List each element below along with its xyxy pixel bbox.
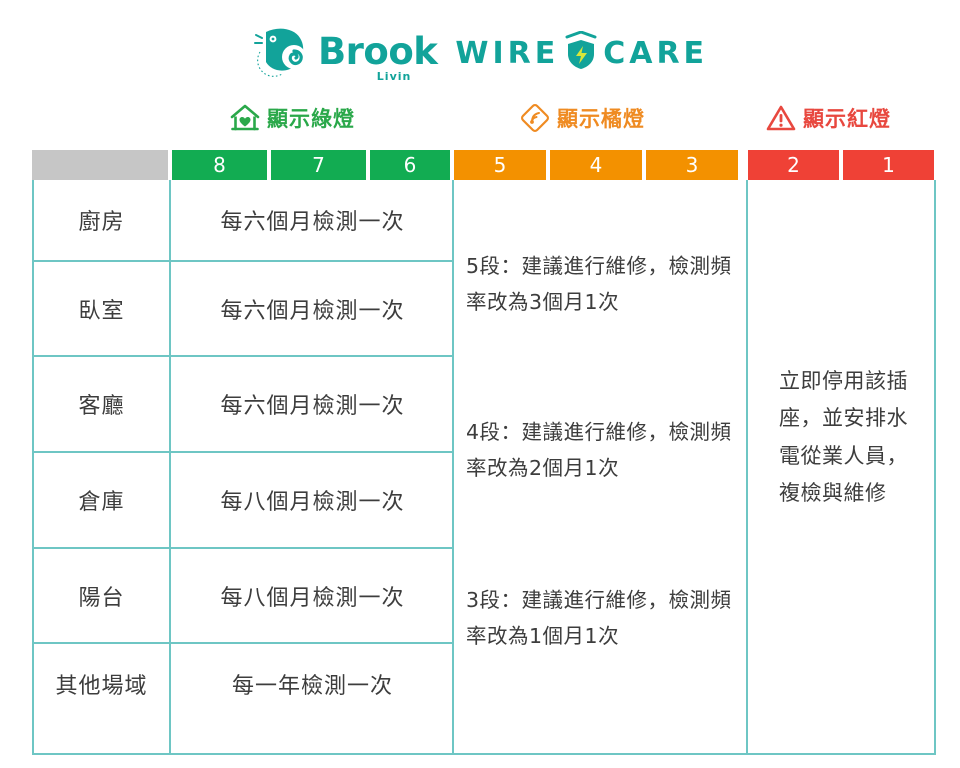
header-level-1[interactable]: 1 bbox=[843, 150, 934, 180]
house-heart-icon bbox=[230, 103, 260, 133]
header-level-3[interactable]: 3 bbox=[646, 150, 738, 180]
brand-header: Brook Livin WIRE CARE bbox=[0, 22, 960, 84]
legend-item-red: 顯示紅燈 bbox=[766, 98, 891, 138]
table-cell-frequency: 每一年檢測一次 bbox=[171, 644, 454, 724]
red-note: 立即停用該插座，並安排水電從業人員，複檢與維修 bbox=[779, 363, 929, 513]
shield-bolt-icon bbox=[564, 31, 598, 71]
header-level-2[interactable]: 2 bbox=[748, 150, 839, 180]
table-row: 倉庫 bbox=[34, 453, 169, 547]
table-cell-frequency: 每八個月檢測一次 bbox=[171, 549, 454, 642]
brook-logo: Brook Livin bbox=[252, 24, 437, 82]
brook-text: Brook bbox=[318, 33, 437, 70]
orange-note-level-4: 4段：建議進行維修，檢測頻率改為2個月1次 bbox=[466, 414, 751, 487]
header-level-4[interactable]: 4 bbox=[550, 150, 642, 180]
header-level-5[interactable]: 5 bbox=[454, 150, 546, 180]
header-blank-cell bbox=[32, 150, 168, 180]
wirecare-wordmark: WIRE CARE bbox=[455, 33, 708, 73]
signal-diamond-icon bbox=[520, 103, 550, 133]
legend-label-green: 顯示綠燈 bbox=[267, 103, 355, 133]
livin-text: Livin bbox=[377, 71, 412, 82]
table-row: 廚房 bbox=[34, 180, 169, 260]
legend-label-orange: 顯示橘燈 bbox=[557, 103, 645, 133]
table-row: 其他場域 bbox=[34, 644, 169, 724]
wire-text: WIRE bbox=[455, 36, 559, 71]
table-cell-frequency: 每六個月檢測一次 bbox=[171, 262, 454, 355]
legend-label-red: 顯示紅燈 bbox=[803, 103, 891, 133]
table-cell-frequency: 每八個月檢測一次 bbox=[171, 453, 454, 547]
table-cell-frequency: 每六個月檢測一次 bbox=[171, 357, 454, 451]
legend: 顯示綠燈 顯示橘燈 顯示紅燈 bbox=[32, 98, 936, 138]
orange-note-level-5: 5段：建議進行維修，檢測頻率改為3個月1次 bbox=[466, 248, 751, 321]
care-text: CARE bbox=[603, 36, 708, 71]
orange-note-level-3: 3段：建議進行維修，檢測頻率改為1個月1次 bbox=[466, 582, 751, 655]
legend-item-green: 顯示綠燈 bbox=[230, 98, 355, 138]
chameleon-logo-icon bbox=[252, 24, 314, 82]
status-level-header: 8 7 6 5 4 3 2 1 bbox=[32, 150, 936, 180]
table-row: 臥室 bbox=[34, 262, 169, 355]
inspection-schedule-table: 廚房 每六個月檢測一次 臥室 每六個月檢測一次 客廳 每六個月檢測一次 倉庫 每… bbox=[32, 180, 936, 755]
table-row: 客廳 bbox=[34, 357, 169, 451]
header-level-7[interactable]: 7 bbox=[271, 150, 366, 180]
legend-item-orange: 顯示橘燈 bbox=[520, 98, 645, 138]
header-level-6[interactable]: 6 bbox=[370, 150, 450, 180]
warning-triangle-icon bbox=[766, 103, 796, 133]
table-row: 陽台 bbox=[34, 549, 169, 642]
header-level-8[interactable]: 8 bbox=[172, 150, 267, 180]
table-cell-frequency: 每六個月檢測一次 bbox=[171, 180, 454, 260]
brook-wordmark: Brook Livin bbox=[318, 33, 437, 82]
